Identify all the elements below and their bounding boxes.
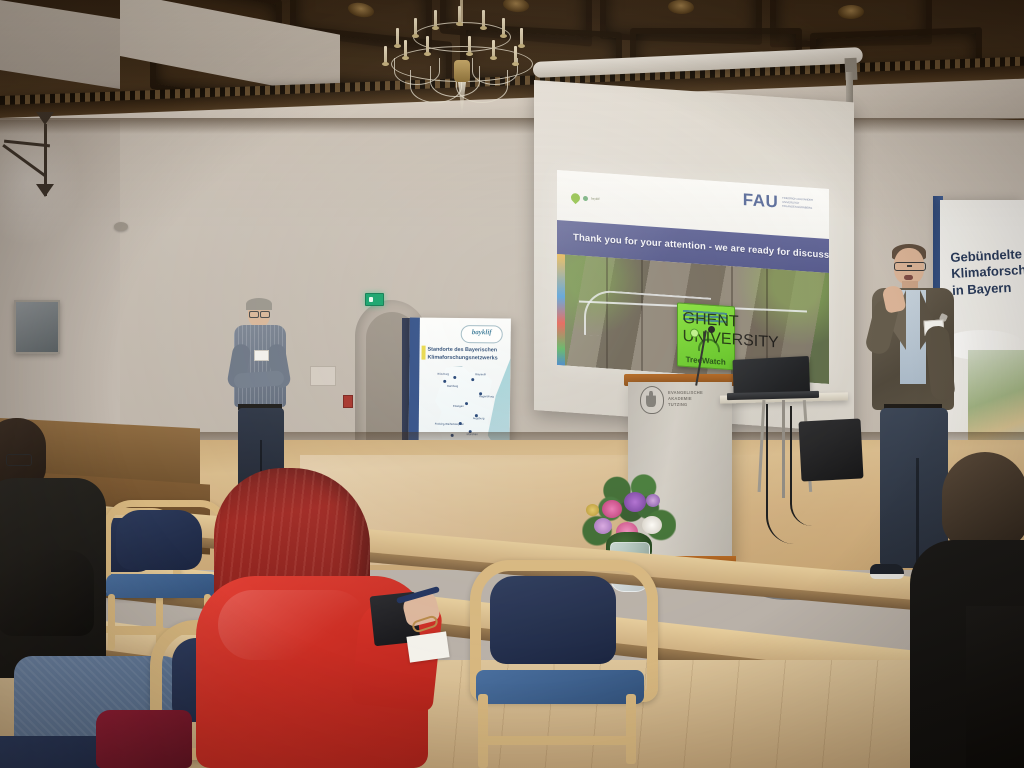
glasses-bridge	[907, 265, 912, 267]
flower-bloom	[642, 516, 662, 534]
glasses-icon	[260, 311, 270, 318]
name-badge	[254, 350, 269, 361]
map-label: Würzburg	[437, 374, 449, 377]
academy-name: EVANGELISCHE AKADEMIE TUTZING	[668, 390, 728, 408]
glasses-icon	[6, 454, 32, 466]
chandelier-candle	[520, 28, 523, 45]
chair-seat-cushion	[476, 670, 644, 704]
fau-logo: FAU FRIEDRICH-ALEXANDER UNIVERSITÄT ERLA…	[743, 191, 813, 213]
chandelier-center-body	[454, 60, 470, 82]
bayklif-logo: bayklif	[571, 193, 600, 204]
chandelier-candle	[414, 18, 417, 35]
wall-lamp-bracket	[4, 120, 66, 200]
coffer-rosette-icon	[348, 1, 374, 19]
blazer-highlight	[218, 590, 368, 660]
academy-crest-figure	[646, 391, 656, 407]
wall-sign-plate	[310, 366, 336, 386]
chandelier-candle	[482, 10, 485, 27]
chandelier-candle	[514, 46, 517, 63]
glasses-icon	[894, 262, 926, 271]
chair-leg	[478, 694, 488, 768]
photograph-scene: bayklif FAU FRIEDRICH-ALEXANDER UNIVERSI…	[0, 0, 1024, 768]
rollup-banner-title: Standorte des Bayerischen Klimaforschung…	[427, 346, 505, 363]
fau-wordmark: FAU	[743, 191, 779, 210]
chair-leg	[626, 694, 636, 764]
dot-icon	[583, 196, 588, 201]
handbag	[96, 710, 192, 768]
map-label: Augsburg	[473, 418, 485, 421]
device-port-icon	[690, 328, 699, 338]
flower-bloom	[586, 504, 599, 516]
map-dot	[453, 376, 456, 379]
glasses-icon	[249, 311, 259, 318]
flower-bloom	[624, 492, 646, 512]
coffer-rosette-icon	[838, 5, 864, 19]
audience-chair-empty[interactable]	[470, 560, 650, 768]
map-dot	[443, 380, 446, 383]
fau-subtitle: FRIEDRICH-ALEXANDER UNIVERSITÄT ERLANGEN…	[782, 194, 813, 210]
hair	[246, 298, 272, 310]
map-label: Bamberg	[447, 386, 458, 389]
chandelier-candle	[468, 36, 471, 53]
leg-separation	[916, 458, 919, 568]
slide-color-strip	[557, 254, 565, 366]
chandelier-candle	[404, 40, 407, 57]
mouth-speaking	[904, 275, 913, 280]
flower-bloom	[602, 500, 622, 518]
chair-rail	[478, 736, 636, 745]
map-label: Bayreuth	[475, 374, 486, 377]
fire-alarm-icon	[343, 395, 353, 408]
map-dot	[471, 378, 474, 381]
map-dot	[465, 402, 468, 405]
exit-sign-icon	[365, 293, 384, 306]
smoke-detector-icon	[114, 222, 128, 231]
partner-logo-label: bayklif	[591, 197, 600, 201]
flower-bloom	[646, 494, 660, 507]
leaf-icon	[569, 191, 582, 204]
microphone-icon	[708, 326, 715, 333]
bayklif-logo-badge: bayklif	[461, 325, 503, 343]
bracket-bar	[2, 144, 46, 177]
audience-woman-red	[196, 468, 444, 768]
ghent-university-logo: GHENT UNIVERSITY	[683, 310, 727, 324]
device-label: TreeWatch	[678, 355, 734, 367]
ceiling-panel-light	[0, 0, 120, 89]
chandelier-candle	[396, 28, 399, 45]
lamp-cone-icon	[36, 112, 54, 125]
map-label: Erlangen	[453, 406, 464, 409]
projected-slide: bayklif FAU FRIEDRICH-ALEXANDER UNIVERSI…	[557, 170, 829, 384]
paper-sheet	[406, 631, 449, 662]
rollup-title-accent	[421, 346, 425, 360]
arm	[0, 550, 94, 636]
chair-back-cushion	[490, 576, 616, 664]
map-label: Regensburg	[479, 396, 494, 399]
coffer-rosette-icon	[668, 0, 694, 14]
chandelier	[372, 0, 552, 121]
chandelier-candle	[492, 40, 495, 57]
shoe-sole	[870, 574, 904, 579]
lamp-cone-icon	[36, 184, 54, 197]
chandelier-candle	[434, 10, 437, 27]
chandelier-candle	[384, 46, 387, 63]
head	[942, 452, 1024, 548]
map-label: Freising-Weihenstephan	[435, 424, 464, 427]
foreground-coat	[966, 606, 1024, 768]
wall-picture-frame	[14, 300, 60, 354]
wall-cornice-shadow	[0, 118, 1024, 134]
chandelier-candle	[502, 18, 505, 35]
av-equipment-case	[798, 418, 863, 481]
chandelier-candle	[458, 6, 461, 23]
rollup-logo-label: bayklif	[462, 329, 502, 336]
chandelier-candle	[426, 36, 429, 53]
flower-bloom	[594, 518, 612, 534]
